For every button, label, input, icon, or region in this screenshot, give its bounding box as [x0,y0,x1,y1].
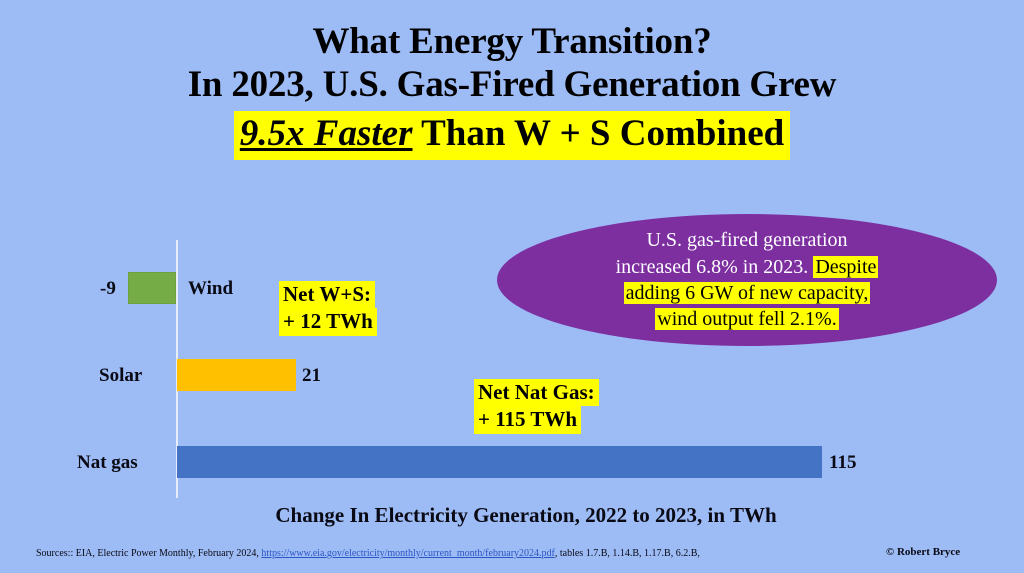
category-label-solar: Solar [99,365,142,387]
purple-ellipse-callout: U.S. gas-fired generation increased 6.8%… [497,214,997,346]
ellipse-line-3: adding 6 GW of new capacity, [624,280,871,306]
chart-axis-title: Change In Electricity Generation, 2022 t… [176,503,876,528]
source-note-prefix: Sources:: EIA, Electric Power Monthly, F… [36,548,261,559]
value-label-nat-gas: 115 [829,452,856,474]
callout-net-nat-gas: Net Nat Gas: + 115 TWh [474,379,599,434]
callout-net-nat-gas-line-2: + 115 TWh [474,406,581,433]
ellipse-line-4: wind output fell 2.1%. [655,306,838,332]
category-label-nat-gas: Nat gas [77,452,138,474]
category-label-wind: Wind [188,278,233,300]
callout-net-wind-solar: Net W+S: + 12 TWh [279,281,377,336]
copyright-notice: © Robert Bryce [886,546,960,558]
value-label-wind: -9 [100,278,116,300]
ellipse-line-1: U.S. gas-fired generation [646,227,847,253]
source-note: Sources:: EIA, Electric Power Monthly, F… [36,548,700,559]
bar-nat-gas [177,446,822,478]
ellipse-line-2: increased 6.8% in 2023. Despite [616,254,879,280]
source-link[interactable]: https://www.eia.gov/electricity/monthly/… [261,548,554,559]
value-label-solar: 21 [302,365,321,387]
ellipse-line-4-highlight: wind output fell 2.1%. [655,308,838,330]
bar-wind [128,272,176,304]
callout-net-nat-gas-line-1: Net Nat Gas: [474,379,599,406]
callout-net-wind-solar-line-1: Net W+S: [279,281,375,308]
ellipse-line-2-highlight: Despite [813,256,878,278]
slide-canvas: What Energy Transition? In 2023, U.S. Ga… [0,0,1024,573]
ellipse-line-2-plain: increased 6.8% in 2023. [616,256,814,278]
bar-solar [177,359,296,391]
callout-net-wind-solar-line-2: + 12 TWh [279,308,377,335]
ellipse-line-3-highlight: adding 6 GW of new capacity, [624,282,871,304]
source-note-suffix: , tables 1.7.B, 1.14.B, 1.17.B, 6.2.B, [555,548,700,559]
